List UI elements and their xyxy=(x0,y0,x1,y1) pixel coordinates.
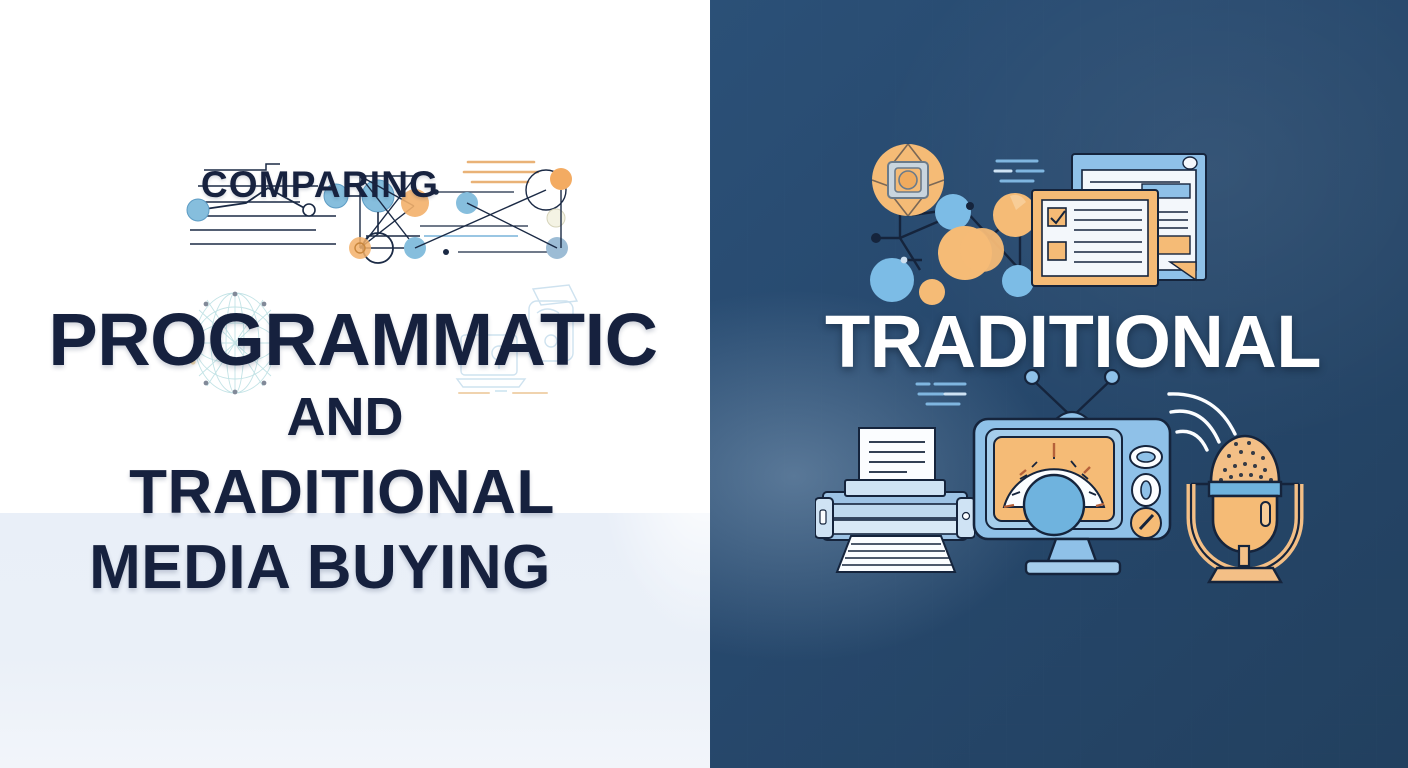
slide-canvas: COMPARING PROGRAMMATIC AND TRADITIONAL M… xyxy=(0,0,1408,768)
radio-microphone-icon xyxy=(1165,390,1310,590)
left-subtitle-line-1: TRADITIONAL xyxy=(0,462,710,524)
text-lines-decor-secondary xyxy=(913,378,973,414)
right-panel: TRADITIONAL xyxy=(710,0,1408,768)
left-eyebrow-text: COMPARING xyxy=(201,166,439,203)
left-subtitle-line-1-text: TRADITIONAL xyxy=(129,462,555,524)
left-headline-text: PROGRAMMATIC xyxy=(48,303,657,377)
left-headline: PROGRAMMATIC xyxy=(0,303,710,377)
left-conjunction-text: AND xyxy=(287,390,404,444)
left-subtitle-line-2-text: MEDIA BUYING xyxy=(89,537,551,599)
printer-icon xyxy=(815,420,975,575)
left-eyebrow-title: COMPARING xyxy=(0,166,710,203)
left-conjunction: AND xyxy=(0,390,710,444)
retro-television-icon xyxy=(970,365,1175,580)
left-panel: COMPARING PROGRAMMATIC AND TRADITIONAL M… xyxy=(0,0,710,768)
stacked-documents-icon xyxy=(1030,150,1210,290)
left-subtitle-line-2: MEDIA BUYING xyxy=(0,537,710,599)
